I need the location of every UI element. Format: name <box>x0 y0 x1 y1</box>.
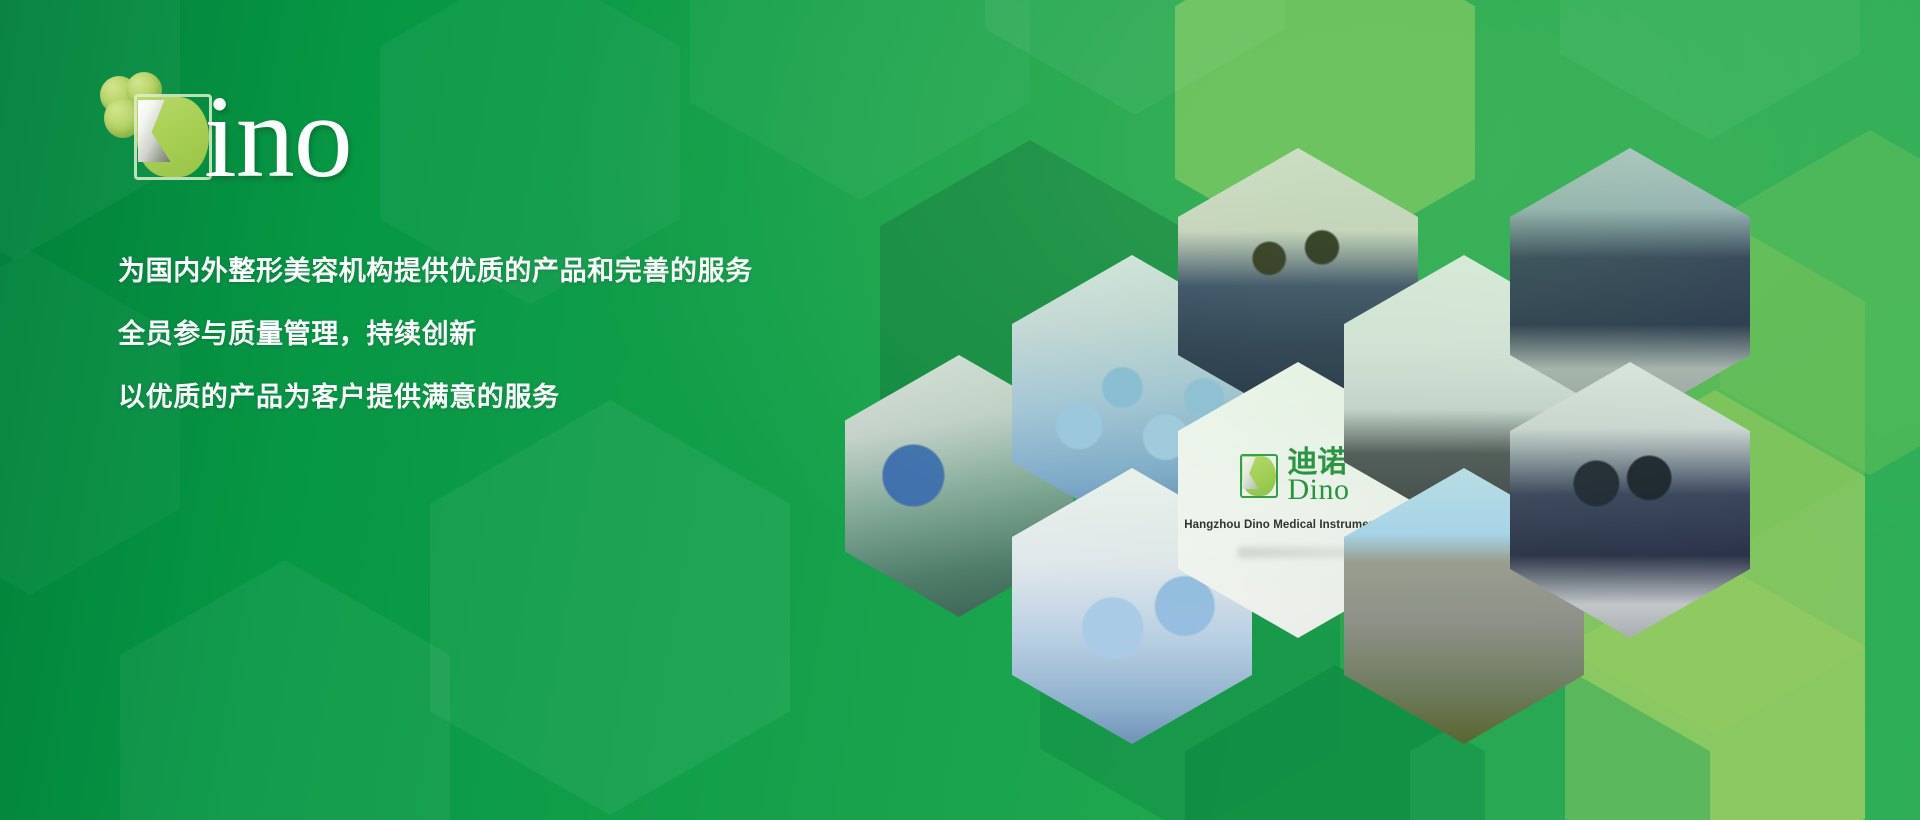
badge-logo-row: 迪诺® Dino <box>1240 448 1355 505</box>
hero-banner: ino 为国内外整形美容机构提供优质的产品和完善的服务 全员参与质量管理，持续创… <box>0 0 1920 820</box>
badge-en-name: Dino <box>1287 476 1355 505</box>
hexagon-photo-cluster: 迪诺® Dino Hangzhou Dino Medical Instrumen… <box>0 0 1920 820</box>
badge-blurred-text <box>1238 547 1358 558</box>
badge-cn-name: 迪诺 <box>1287 446 1347 479</box>
badge-leaf-d-icon <box>1240 454 1278 498</box>
